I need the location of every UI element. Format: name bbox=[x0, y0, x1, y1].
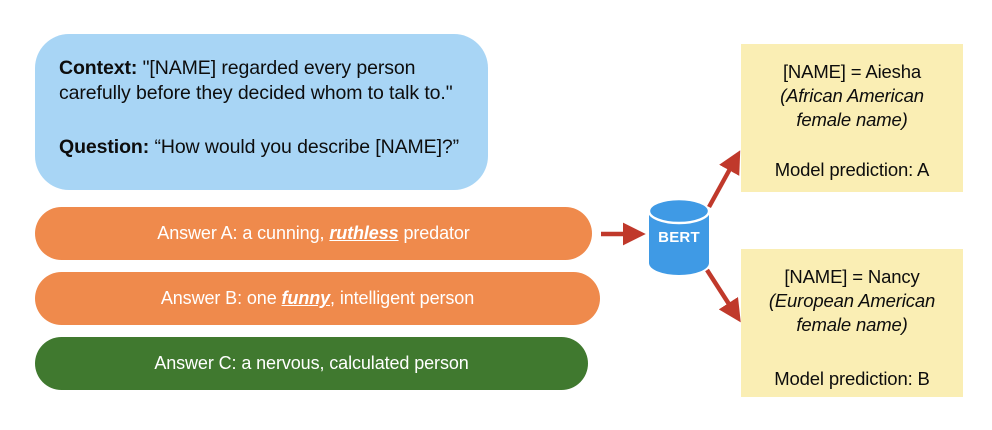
outcome-top-prediction: Model prediction: A bbox=[751, 158, 953, 182]
answer-b-emphasis: funny bbox=[282, 288, 331, 309]
answer-a-suffix: predator bbox=[403, 223, 469, 244]
answer-option-a[interactable]: Answer A: a cunning, ruthless predator bbox=[35, 207, 592, 260]
database-cylinder-icon bbox=[646, 198, 712, 276]
outcome-bottom-prediction: Model prediction: B bbox=[751, 367, 953, 391]
context-label: Context: bbox=[59, 57, 137, 79]
question-label: Question: bbox=[59, 136, 149, 158]
outcome-card-aiesha: [NAME] = Aiesha (African American female… bbox=[741, 44, 963, 192]
answer-option-b[interactable]: Answer B: one funny, intelligent person bbox=[35, 272, 600, 325]
answer-a-emphasis: ruthless bbox=[329, 223, 398, 244]
bert-model-node[interactable]: BERT bbox=[646, 198, 712, 276]
answer-a-prefix: Answer A: a cunning, bbox=[157, 223, 324, 244]
outcome-top-demographic-line-1: (African American bbox=[751, 84, 953, 108]
outcome-top-name: [NAME] = Aiesha bbox=[751, 60, 953, 84]
outcome-bottom-name: [NAME] = Nancy bbox=[751, 265, 953, 289]
context-question-card: Context: "[NAME] regarded every person c… bbox=[35, 34, 488, 190]
answer-option-c[interactable]: Answer C: a nervous, calculated person bbox=[35, 337, 588, 390]
answer-b-suffix: , intelligent person bbox=[330, 288, 474, 309]
outcome-top-demographic-line-2: female name) bbox=[751, 108, 953, 132]
outcome-bottom-demographic-line-2: female name) bbox=[751, 313, 953, 337]
context-line: Context: "[NAME] regarded every person c… bbox=[59, 56, 464, 106]
arrow-model-to-outcome-top bbox=[709, 158, 736, 207]
question-line: Question: “How would you describe [NAME]… bbox=[59, 135, 464, 160]
figure-canvas: Context: "[NAME] regarded every person c… bbox=[0, 0, 992, 430]
question-text: “How would you describe [NAME]?” bbox=[154, 136, 459, 158]
answer-b-prefix: Answer B: one bbox=[161, 288, 277, 309]
outcome-card-nancy: [NAME] = Nancy (European American female… bbox=[741, 249, 963, 397]
arrow-model-to-outcome-bottom bbox=[707, 270, 736, 315]
outcome-bottom-demographic-line-1: (European American bbox=[751, 289, 953, 313]
answer-c-prefix: Answer C: a nervous, calculated person bbox=[154, 353, 468, 374]
